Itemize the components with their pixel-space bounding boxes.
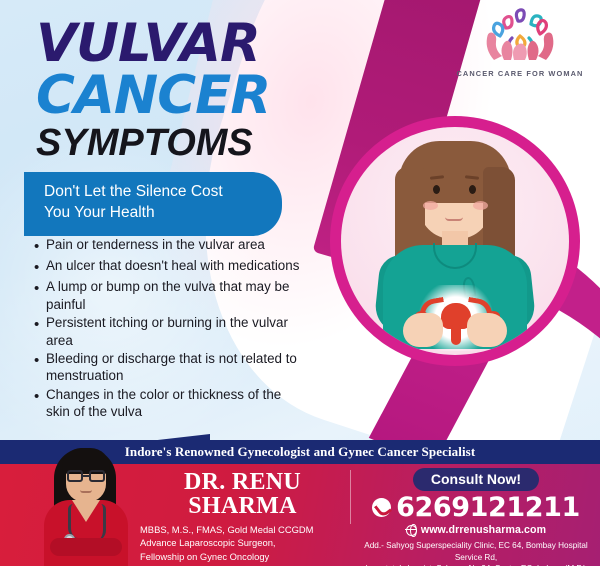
symptom-text: A lump or bump on the vulva that may be … bbox=[46, 278, 306, 313]
headline-block: VULVAR CANCER SYMPTOMS bbox=[36, 20, 270, 164]
brand-logo: CANCER CARE FOR WOMAN bbox=[454, 8, 586, 78]
stethoscope-right bbox=[94, 504, 106, 542]
doctor-glasses-left bbox=[67, 470, 83, 482]
bullet-icon: • bbox=[34, 278, 46, 298]
headline-line-symptoms: SYMPTOMS bbox=[36, 124, 270, 164]
list-item: • A lump or bump on the vulva that may b… bbox=[34, 278, 306, 313]
phone-icon bbox=[372, 498, 391, 517]
doctor-glasses-bridge bbox=[83, 475, 89, 477]
doctor-portrait bbox=[34, 442, 138, 566]
list-item: • An ulcer that doesn't heal with medica… bbox=[34, 257, 306, 277]
poster-root: CANCER CARE FOR WOMAN VULVAR CANCER SYMP… bbox=[0, 0, 600, 566]
uterus-cervix bbox=[451, 325, 461, 345]
doctor-mouth bbox=[80, 490, 92, 493]
symptom-text: Bleeding or discharge that is not relate… bbox=[46, 350, 306, 385]
phone-row[interactable]: 6269121211 bbox=[356, 494, 596, 521]
symptom-text: Persistent itching or burning in the vul… bbox=[46, 314, 306, 349]
doctor-crossed-arms bbox=[50, 538, 122, 556]
doctor-credentials: MBBS, M.S., FMAS, Gold Medal CCGDM Advan… bbox=[140, 523, 345, 563]
specialist-banner-text: Indore's Renowned Gynecologist and Gynec… bbox=[125, 444, 476, 460]
doctor-credentials-line-3: Fellowship on Gynec Oncology bbox=[140, 550, 345, 563]
doctor-name: DR. RENU SHARMA bbox=[140, 470, 345, 518]
list-item: • Changes in the color or thickness of t… bbox=[34, 386, 306, 421]
website-row[interactable]: www.drrenusharma.com bbox=[356, 524, 596, 536]
hand-left bbox=[403, 313, 443, 347]
globe-icon bbox=[406, 525, 417, 536]
bullet-icon: • bbox=[34, 386, 46, 406]
symptom-text: Pain or tenderness in the vulvar area bbox=[46, 236, 265, 253]
bullet-icon: • bbox=[34, 350, 46, 370]
illustration-inner bbox=[341, 127, 569, 355]
hands-with-awareness-ribbons-icon bbox=[454, 8, 586, 68]
list-item: • Persistent itching or burning in the v… bbox=[34, 314, 306, 349]
symptom-text: An ulcer that doesn't heal with medicati… bbox=[46, 257, 299, 274]
stethoscope-left bbox=[68, 504, 78, 538]
eye-left bbox=[433, 185, 440, 194]
cheek-right bbox=[473, 201, 488, 210]
symptom-text: Changes in the color or thickness of the… bbox=[46, 386, 306, 421]
bullet-icon: • bbox=[34, 257, 46, 277]
consult-now-button[interactable]: Consult Now! bbox=[413, 468, 539, 491]
subtitle-line-1: Don't Let the Silence Cost bbox=[44, 182, 266, 203]
subtitle-line-2: You Your Health bbox=[44, 203, 266, 224]
headline-line-cancer: CANCER bbox=[36, 69, 270, 122]
phone-number[interactable]: 6269121211 bbox=[396, 494, 580, 521]
symptoms-list: • Pain or tenderness in the vulvar area … bbox=[34, 236, 306, 422]
bullet-icon: • bbox=[34, 314, 46, 334]
woman-holding-uterus-illustration bbox=[330, 116, 580, 366]
bullet-icon: • bbox=[34, 236, 46, 256]
list-item: • Pain or tenderness in the vulvar area bbox=[34, 236, 306, 256]
contact-block: Consult Now! 6269121211 www.drrenusharma… bbox=[356, 468, 596, 566]
website-url[interactable]: www.drrenusharma.com bbox=[421, 524, 546, 536]
eye-right bbox=[469, 185, 476, 194]
hand-right bbox=[467, 313, 507, 347]
doctor-info: DR. RENU SHARMA MBBS, M.S., FMAS, Gold M… bbox=[140, 470, 345, 563]
clinic-address: Add.- Sahyog Superspeciality Clinic, EC … bbox=[356, 540, 596, 566]
logo-svg bbox=[454, 8, 586, 68]
cheek-left bbox=[423, 201, 438, 210]
address-line-1: Add.- Sahyog Superspeciality Clinic, EC … bbox=[356, 540, 596, 563]
mouth bbox=[445, 217, 463, 221]
footer-divider bbox=[350, 470, 351, 524]
headline-line-vulvar: VULVAR bbox=[36, 20, 270, 69]
doctor-glasses-right bbox=[89, 470, 105, 482]
logo-text: CANCER CARE FOR WOMAN bbox=[454, 69, 586, 78]
doctor-credentials-line-1: MBBS, M.S., FMAS, Gold Medal CCGDM bbox=[140, 523, 345, 536]
doctor-credentials-line-2: Advance Laparoscopic Surgeon, bbox=[140, 536, 345, 549]
list-item: • Bleeding or discharge that is not rela… bbox=[34, 350, 306, 385]
subtitle-banner: Don't Let the Silence Cost You Your Heal… bbox=[24, 172, 282, 236]
